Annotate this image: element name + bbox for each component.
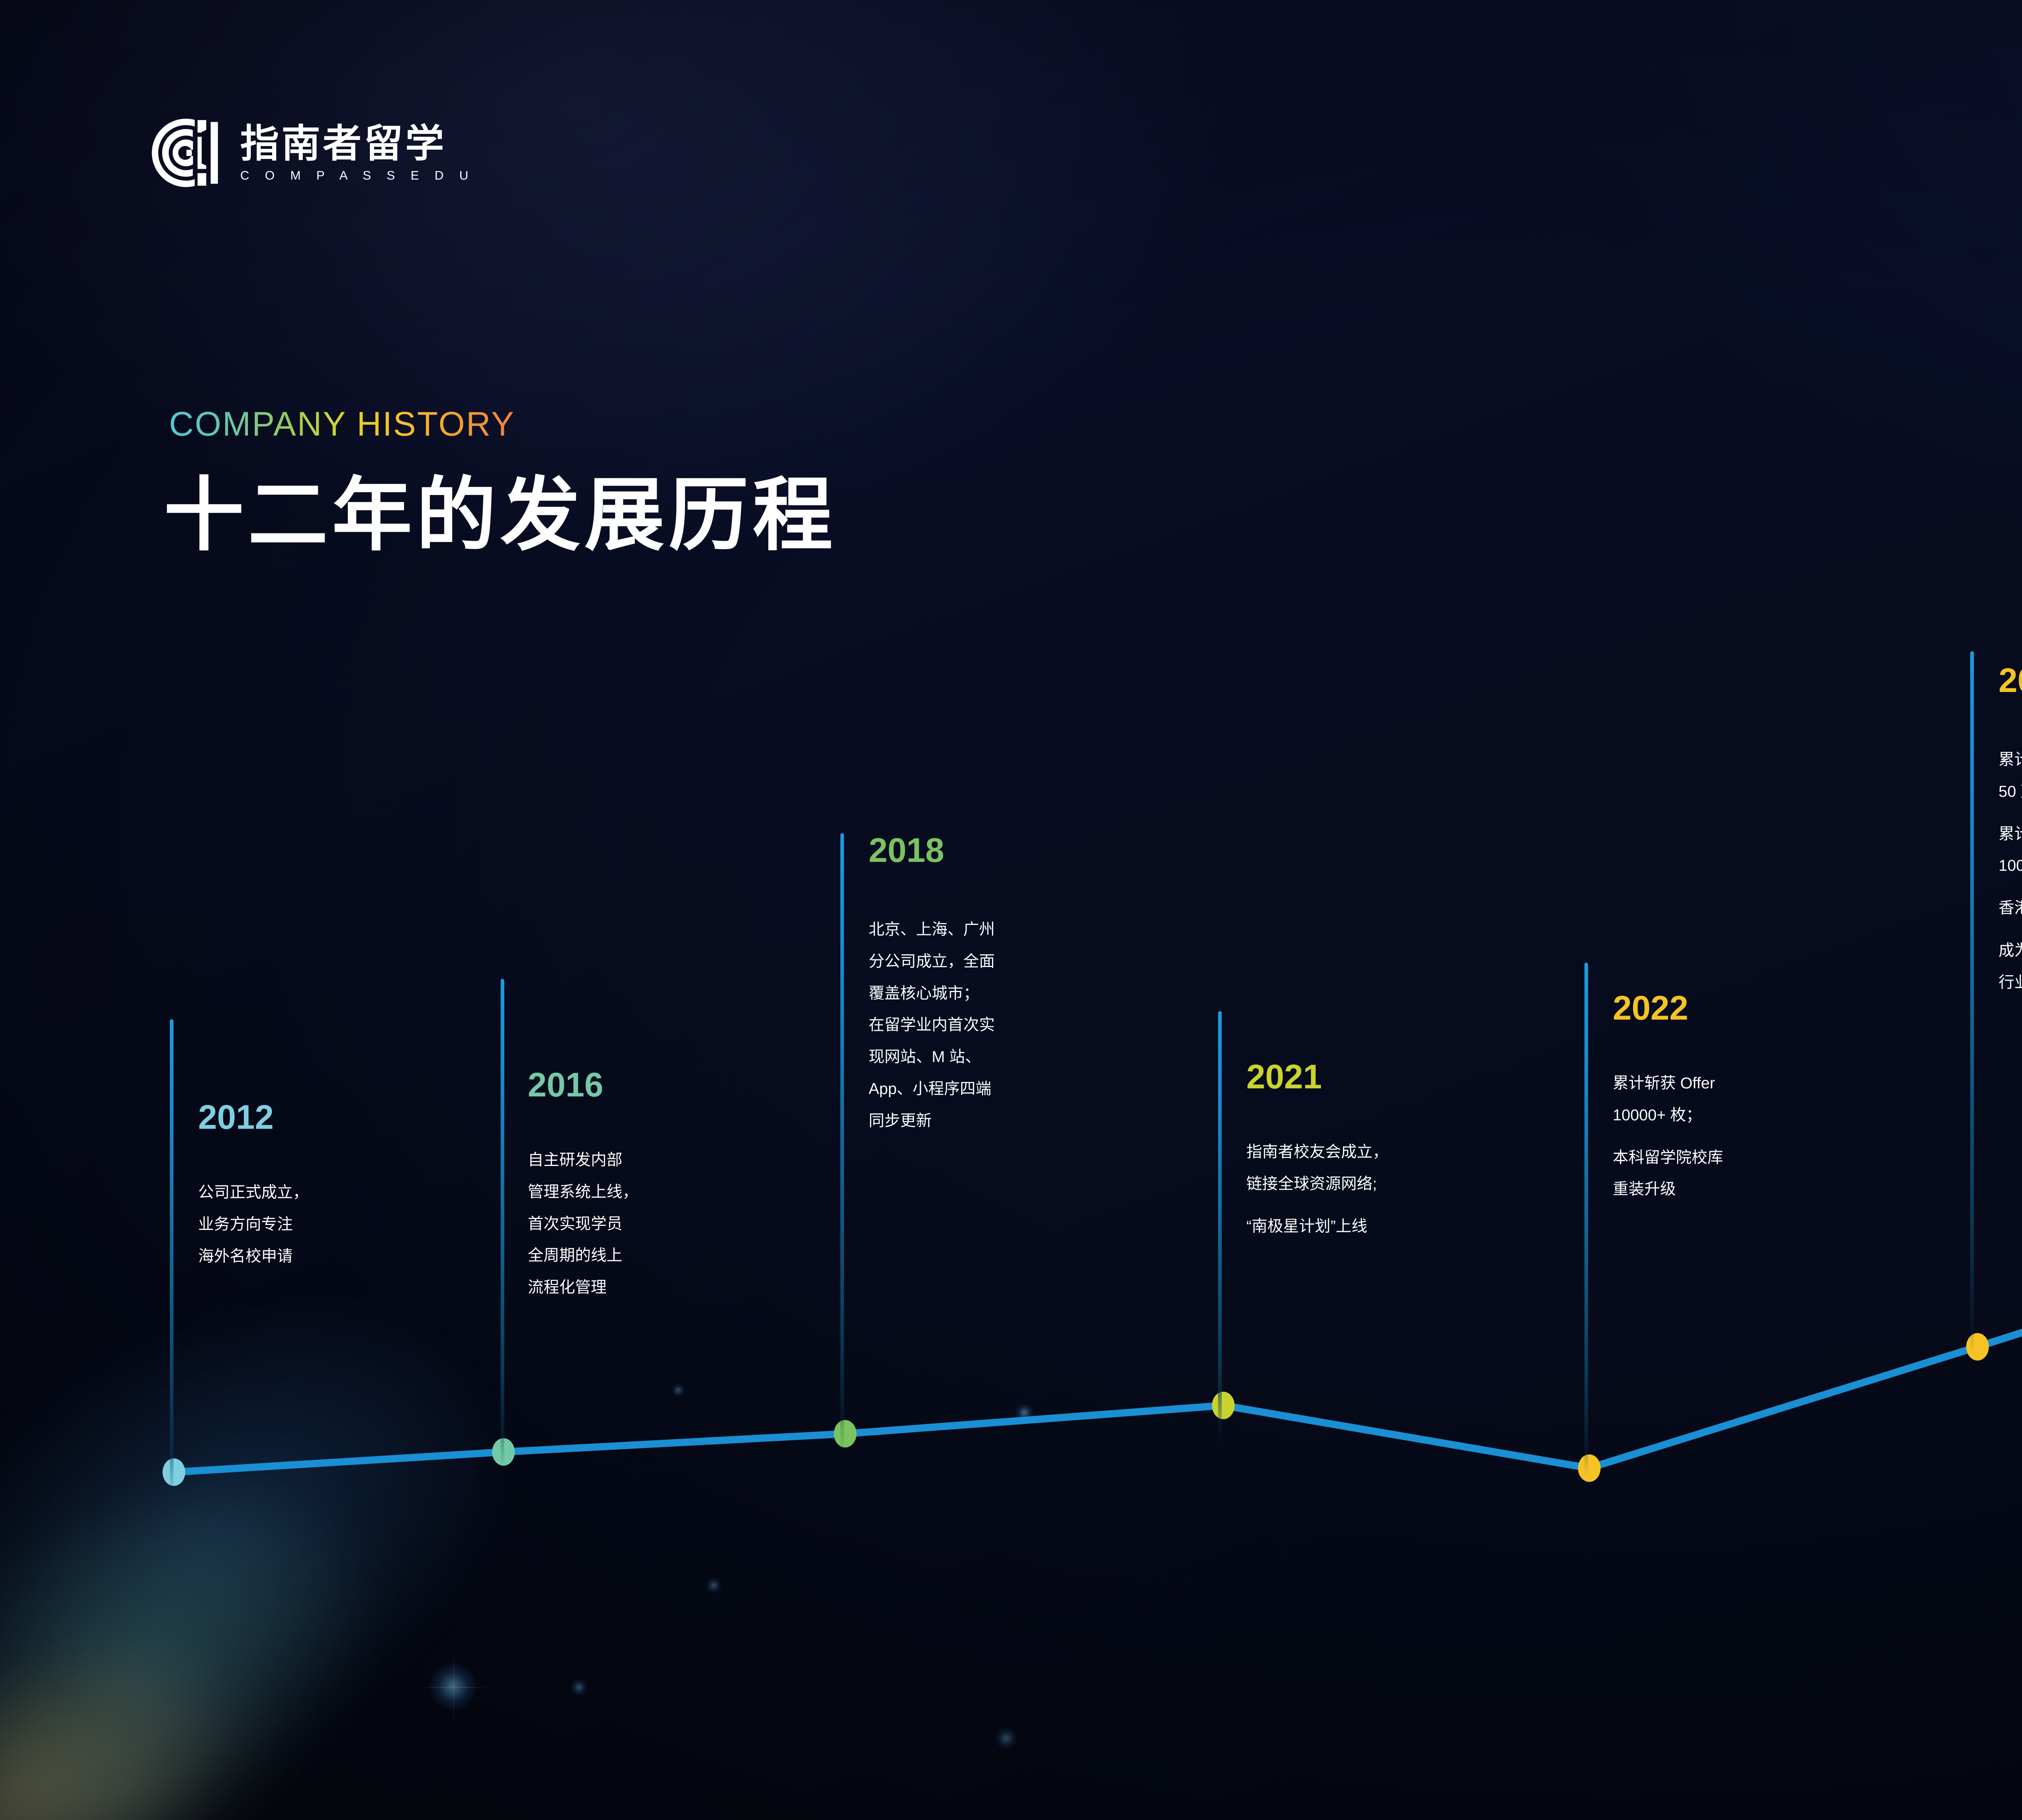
timeline-detail-line: 50 万 + 人； (1999, 776, 2022, 808)
timeline-accent-line (840, 833, 844, 1452)
timeline-detail-line: 10000+ 人； (1999, 850, 2022, 882)
text-spacer (1999, 882, 2022, 893)
timeline-detail-line: 海外名校申请 (198, 1241, 309, 1273)
timeline-detail-line: 业务方向专注 (198, 1209, 309, 1241)
timeline-year-label: 2018 (869, 833, 944, 867)
timeline-year-label: 2016 (528, 1068, 603, 1102)
timeline-detail-text: 指南者校友会成立，链接全球资源网络;“南极星计划”上线 (1246, 1136, 1388, 1242)
timeline-detail-line: 累计服务人数突破 (1999, 819, 2022, 851)
timeline-accent-line (170, 1019, 173, 1496)
data-point-markers (163, 1115, 2022, 1486)
timeline-detail-text: 自主研发内部管理系统上线，首次实现学员全周期的线上流程化管理 (528, 1145, 638, 1304)
timeline-detail-text: 累计斩获 Offer10000+ 枚；本科留学院校库重装升级 (1613, 1068, 1723, 1206)
timeline-detail-line: “南极星计划”上线 (1246, 1211, 1388, 1243)
timeline-detail-line: 覆盖核心城市； (869, 978, 995, 1010)
timeline-detail-line: 累计注册用户突破 (1999, 744, 2022, 776)
infographic-canvas: 指南者留学 C O M P A S S E D U COMPANY HISTOR… (0, 0, 2022, 1820)
timeline-detail-line: 公司正式成立， (198, 1177, 309, 1209)
timeline-accent-line (1970, 651, 1974, 1355)
timeline-detail-line: 管理系统上线， (528, 1177, 638, 1208)
timeline-detail-line: 10000+ 枚； (1613, 1100, 1723, 1132)
data-point-marker (1966, 1333, 1989, 1361)
trend-line (174, 934, 2022, 1472)
timeline-year-label: 2023 (1999, 663, 2022, 697)
data-point-marker (163, 1458, 185, 1486)
timeline-detail-text: 公司正式成立，业务方向专注海外名校申请 (198, 1177, 309, 1272)
timeline-detail-line: 现网站、M 站、 (869, 1041, 995, 1073)
timeline-detail-line: 重装升级 (1613, 1174, 1723, 1206)
timeline-detail-line: 全周期的线上 (528, 1240, 638, 1272)
text-spacer (1999, 925, 2022, 935)
timeline-detail-line: 北京、上海、广州 (869, 914, 995, 946)
timeline-detail-line: 同步更新 (869, 1105, 995, 1137)
text-spacer (1999, 808, 2022, 819)
timeline-detail-line: 指南者校友会成立， (1246, 1136, 1388, 1168)
timeline-detail-line: 流程化管理 (528, 1272, 638, 1304)
timeline-accent-line (501, 979, 504, 1468)
timeline-detail-line: 自主研发内部 (528, 1145, 638, 1177)
timeline-detail-line: 成为北京留学服务 (1999, 935, 2022, 967)
timeline-detail-line: 香港分公司成立； (1999, 893, 2022, 925)
timeline-detail-line: 本科留学院校库 (1613, 1142, 1723, 1174)
timeline-detail-line: 行业协会会员单位 (1999, 967, 2022, 999)
timeline-accent-line (1218, 1011, 1222, 1444)
timeline-chart (0, 0, 2022, 1820)
text-spacer (1246, 1200, 1388, 1211)
data-point-marker (1578, 1454, 1601, 1482)
timeline-year-label: 2022 (1613, 991, 1688, 1025)
timeline-year-label: 2012 (198, 1100, 274, 1134)
timeline-accent-line (1584, 963, 1588, 1476)
timeline-detail-text: 累计注册用户突破50 万 + 人；累计服务人数突破10000+ 人；香港分公司成… (1999, 744, 2022, 999)
timeline-detail-line: 累计斩获 Offer (1613, 1068, 1723, 1100)
timeline-detail-line: 首次实现学员 (528, 1208, 638, 1240)
timeline-detail-line: 分公司成立，全面 (869, 946, 995, 978)
text-spacer (1613, 1132, 1723, 1142)
timeline-year-label: 2021 (1246, 1060, 1322, 1094)
timeline-detail-line: App、小程序四端 (869, 1073, 995, 1105)
data-point-marker (1212, 1392, 1235, 1419)
data-point-marker (834, 1420, 857, 1448)
timeline-detail-text: 北京、上海、广州分公司成立，全面覆盖核心城市；在留学业内首次实现网站、M 站、A… (869, 914, 995, 1137)
timeline-detail-line: 链接全球资源网络; (1246, 1168, 1388, 1200)
timeline-detail-line: 在留学业内首次实 (869, 1009, 995, 1041)
